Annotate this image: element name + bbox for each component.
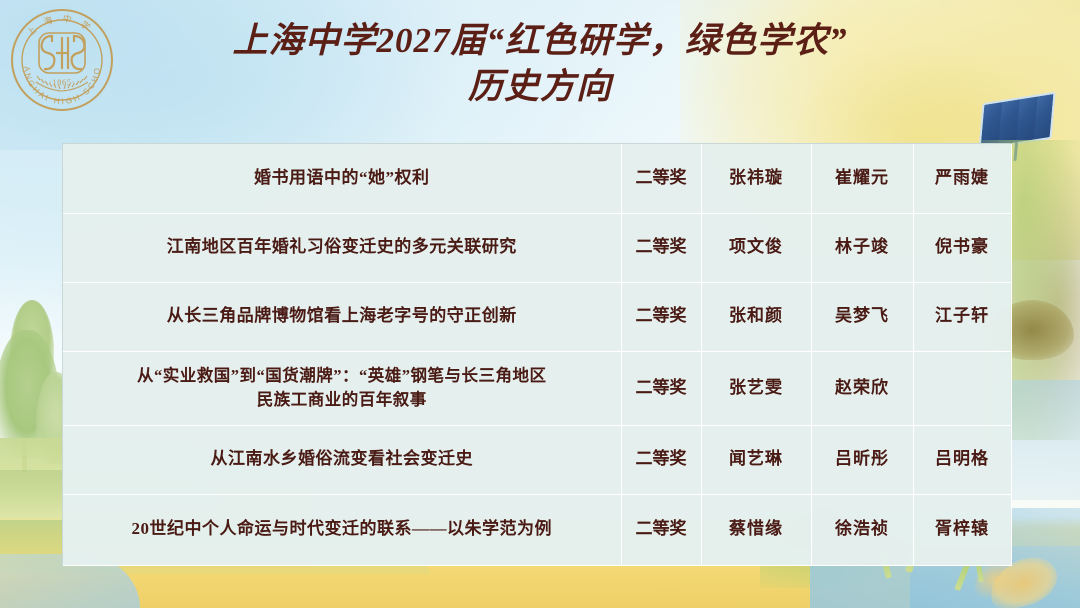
- table-row[interactable]: 20世纪中个人命运与时代变迁的联系——以朱学范为例 二等奖 蔡惜缘 徐浩祯 胥梓…: [63, 494, 1011, 565]
- award-table: 婚书用语中的“她”权利 二等奖 张祎璇 崔耀元 严雨婕 江南地区百年婚礼习俗变迁…: [63, 144, 1012, 566]
- project-title-cell: 从长三角品牌博物馆看上海老字号的守正创新: [63, 282, 621, 351]
- table-row[interactable]: 江南地区百年婚礼习俗变迁史的多元关联研究 二等奖 项文俊 林子竣 倪书豪: [63, 213, 1011, 282]
- member-name-cell: 徐浩祯: [811, 494, 913, 565]
- award-level-cell: 二等奖: [621, 425, 701, 494]
- project-title-line-2: 民族工商业的百年叙事: [257, 390, 427, 409]
- table-row[interactable]: 婚书用语中的“她”权利 二等奖 张祎璇 崔耀元 严雨婕: [63, 144, 1011, 213]
- member-name-cell: 胥梓辕: [913, 494, 1011, 565]
- project-title-cell: 从“实业救国”到“国货潮牌”：“英雄”钢笔与长三角地区 民族工商业的百年叙事: [63, 351, 621, 425]
- member-name-cell: 严雨婕: [913, 144, 1011, 213]
- award-level-cell: 二等奖: [621, 351, 701, 425]
- member-name-cell: 倪书豪: [913, 213, 1011, 282]
- member-name-cell: 蔡惜缘: [701, 494, 811, 565]
- solar-panel-icon: [978, 92, 1055, 151]
- table-row[interactable]: 从江南水乡婚俗流变看社会变迁史 二等奖 闻艺琳 吕昕彤 吕明格: [63, 425, 1011, 494]
- tree-icon-back: [10, 300, 54, 386]
- member-name-cell: 项文俊: [701, 213, 811, 282]
- table-row[interactable]: 从“实业救国”到“国货潮牌”：“英雄”钢笔与长三角地区 民族工商业的百年叙事 二…: [63, 351, 1011, 425]
- member-name-cell: 崔耀元: [811, 144, 913, 213]
- member-name-cell: 张艺雯: [701, 351, 811, 425]
- title-line-1: 上海中学2027届“红色研学，绿色学农”: [128, 18, 952, 64]
- tree-trunk: [22, 440, 27, 472]
- title-line-2: 历史方向: [128, 64, 952, 110]
- member-name-cell: 赵荣欣: [811, 351, 913, 425]
- project-title-cell: 江南地区百年婚礼习俗变迁史的多元关联研究: [63, 213, 621, 282]
- member-name-cell-empty: [913, 351, 1011, 425]
- member-name-cell: 闻艺琳: [701, 425, 811, 494]
- table-row[interactable]: 从长三角品牌博物馆看上海老字号的守正创新 二等奖 张和颜 吴梦飞 江子轩: [63, 282, 1011, 351]
- award-level-cell: 二等奖: [621, 213, 701, 282]
- member-name-cell: 吴梦飞: [811, 282, 913, 351]
- school-logo: ·1865· SHANGHAI HIGH SCHOOL 上海中学: [8, 6, 116, 114]
- member-name-cell: 吕昕彤: [811, 425, 913, 494]
- project-title-cell: 婚书用语中的“她”权利: [63, 144, 621, 213]
- tree-icon-main: [0, 330, 60, 458]
- solar-panel-face: [978, 92, 1055, 151]
- member-name-cell: 张祎璇: [701, 144, 811, 213]
- award-table-container: 婚书用语中的“她”权利 二等奖 张祎璇 崔耀元 严雨婕 江南地区百年婚礼习俗变迁…: [62, 143, 1010, 566]
- member-name-cell: 江子轩: [913, 282, 1011, 351]
- award-level-cell: 二等奖: [621, 282, 701, 351]
- slide-title: 上海中学2027届“红色研学，绿色学农” 历史方向: [128, 18, 952, 109]
- award-level-cell: 二等奖: [621, 494, 701, 565]
- member-name-cell: 林子竣: [811, 213, 913, 282]
- award-level-cell: 二等奖: [621, 144, 701, 213]
- member-name-cell: 吕明格: [913, 425, 1011, 494]
- member-name-cell: 张和颜: [701, 282, 811, 351]
- project-title-cell: 从江南水乡婚俗流变看社会变迁史: [63, 425, 621, 494]
- project-title-cell: 20世纪中个人命运与时代变迁的联系——以朱学范为例: [63, 494, 621, 565]
- left-sky-strip: [0, 150, 64, 330]
- solar-panel-pole: [1013, 142, 1018, 161]
- presentation-slide: ·1865· SHANGHAI HIGH SCHOOL 上海中学 上海中学202…: [0, 0, 1080, 608]
- svg-text:·1865·: ·1865·: [49, 77, 75, 87]
- project-title-line-1: 从“实业救国”到“国货潮牌”：“英雄”钢笔与长三角地区: [137, 366, 547, 385]
